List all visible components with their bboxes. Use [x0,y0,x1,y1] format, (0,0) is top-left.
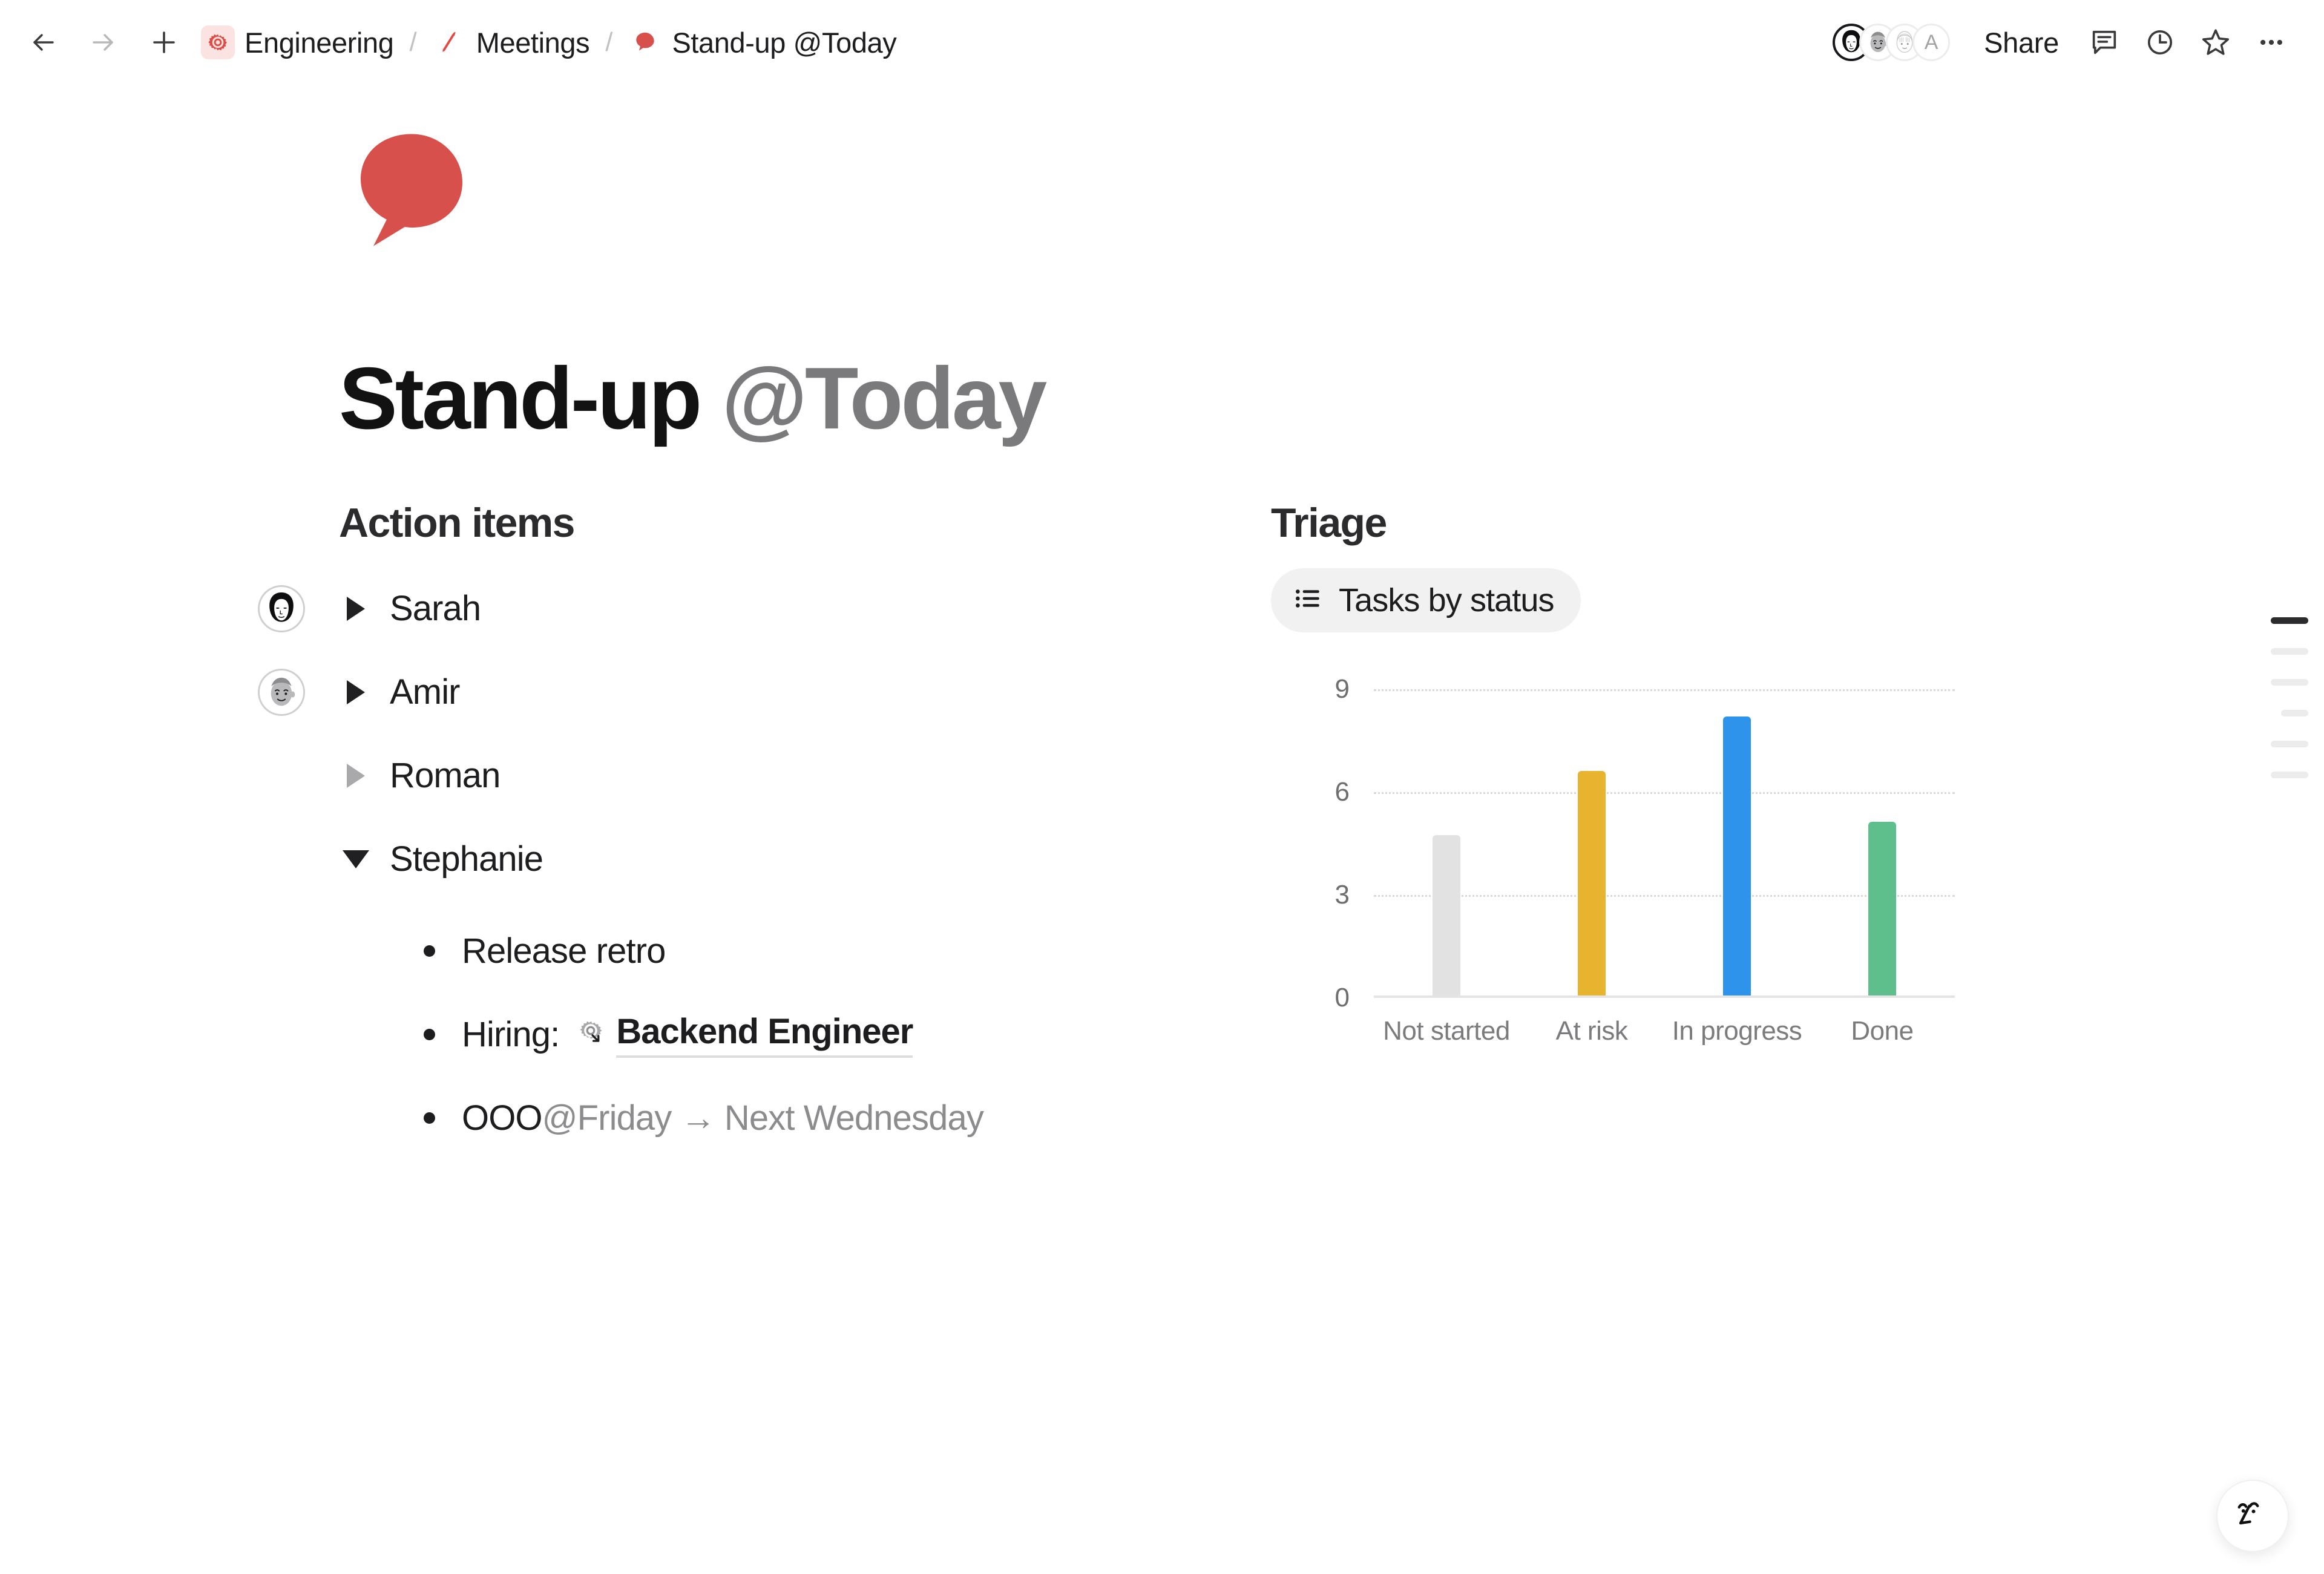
action-items-heading: Action items [339,499,1241,546]
back-button[interactable] [17,16,69,68]
bar-slot-not-started [1374,689,1519,995]
tree-label-sarah: Sarah [390,588,481,629]
bullet-text-hiring: Hiring: Backend [462,1011,913,1058]
bullet-dot-icon [424,1029,435,1040]
bullet-dot-icon [424,945,435,957]
avatar-placeholder[interactable]: A [1912,24,1950,61]
row-avatar-sarah[interactable] [258,585,305,632]
toolbar-actions: A Share [1833,16,2297,68]
breadcrumb-separator-2: / [605,27,612,57]
bullet-dot-icon [424,1112,435,1124]
assistant-button[interactable] [2216,1480,2289,1552]
tree-row-amir[interactable]: Amir [339,651,1241,734]
list-item[interactable]: Release retro [339,910,1241,993]
bar-slot-in-progress [1664,689,1810,995]
content-columns: Action items [339,499,1997,1160]
toggle-arrow-amir[interactable] [339,680,373,704]
breadcrumb-item-meetings[interactable]: Meetings [428,22,595,63]
x-label-in-progress: In progress [1664,1016,1810,1046]
chart-x-labels: Not started At risk In progress Done [1374,1016,1955,1046]
bullet-text-release-retro: Release retro [462,931,665,971]
bar-at-risk[interactable] [1578,771,1606,995]
x-label-done: Done [1810,1016,1955,1046]
document-canvas: Stand-up @Today Action items [0,85,2324,1574]
tree-row-stephanie[interactable]: Stephanie [339,818,1241,901]
y-tick-6: 6 [1259,777,1350,807]
page-title-text: Stand-up [339,349,722,447]
breadcrumb-item-standup[interactable]: Stand-up @Today [623,22,901,63]
x-label-not-started: Not started [1374,1016,1519,1046]
page-link-backend-engineer[interactable]: Backend Engineer [575,1011,913,1058]
tree-label-roman: Roman [390,755,500,796]
document-outline-minimap[interactable] [2236,617,2308,778]
triage-heading: Triage [1271,499,1955,546]
action-items-tree: Sarah [339,567,1241,1160]
y-tick-0: 0 [1259,983,1350,1013]
minimap-line[interactable] [2271,772,2308,778]
page-link-label: Backend Engineer [616,1011,913,1058]
list-icon [1293,583,1323,617]
clock-icon[interactable] [2134,16,2186,68]
x-label-at-risk: At risk [1519,1016,1664,1046]
document-body: Stand-up @Today Action items [339,85,1997,1160]
breadcrumb-label-standup: Stand-up @Today [672,26,896,59]
minimap-line-active[interactable] [2271,617,2308,624]
tree-row-roman[interactable]: Roman [339,734,1241,818]
bullet-text-ooo: OOO @Friday → Next Wednesday [462,1098,983,1138]
bar-in-progress[interactable] [1723,716,1751,995]
share-button[interactable]: Share [1974,20,2069,65]
ellipsis-icon[interactable] [2245,16,2297,68]
bar-not-started[interactable] [1433,835,1460,995]
minimap-line[interactable] [2271,679,2308,686]
minimap-line[interactable] [2271,741,2308,747]
page-emoji-speech-bubble-icon[interactable] [339,127,484,254]
list-item[interactable]: Hiring: Backend [339,993,1241,1077]
y-tick-9: 9 [1259,674,1350,704]
tree-label-amir: Amir [390,672,460,712]
breadcrumb-label-meetings: Meetings [476,26,590,59]
chip-label: Tasks by status [1339,582,1554,619]
tree-row-sarah[interactable]: Sarah [339,567,1241,651]
page-title-mention: @Today [722,349,1045,447]
tasks-by-status-chip[interactable]: Tasks by status [1271,568,1581,632]
breadcrumb: Engineering / Meetings / Stand-up @Today [196,22,901,63]
bar-slot-done [1810,689,1955,995]
bar-slot-at-risk [1519,689,1664,995]
avatar-initial: A [1925,31,1938,54]
star-icon[interactable] [2190,16,2242,68]
toggle-arrow-roman[interactable] [339,764,373,788]
speech-bubble-emoji-icon [628,25,662,59]
chart-bars [1374,689,1955,995]
bullet-ooo-date-mention: @Friday → Next Wednesday [542,1098,983,1138]
pencil-emoji-icon [433,25,467,59]
navigation-arrows [17,16,190,68]
list-item[interactable]: OOO @Friday → Next Wednesday [339,1077,1241,1160]
gear-emoji-icon [201,25,235,59]
triage-column: Triage Tasks by status [1241,499,1955,1052]
breadcrumb-separator: / [409,27,416,57]
bullet-ooo-label: OOO [462,1098,542,1138]
bullet-prefix-hiring: Hiring: [462,1014,559,1055]
toggle-arrow-sarah[interactable] [339,597,373,621]
axis-baseline [1374,995,1955,998]
top-toolbar: Engineering / Meetings / Stand-up @Today [0,0,2324,85]
row-avatar-amir[interactable] [258,669,305,716]
y-tick-3: 3 [1259,880,1350,910]
toggle-arrow-stephanie[interactable] [339,850,373,868]
collaborator-avatars: A [1833,24,1950,61]
tree-label-stephanie: Stephanie [390,839,543,879]
bar-done[interactable] [1868,822,1896,995]
comment-icon[interactable] [2078,16,2130,68]
row-avatar-roman-empty [258,752,305,799]
new-document-button[interactable] [138,16,190,68]
page-title[interactable]: Stand-up @Today [339,351,1997,446]
tasks-by-status-chart: 9 6 3 0 [1271,677,1955,1052]
breadcrumb-label-engineering: Engineering [245,26,393,59]
chart-plot-area [1374,689,1955,998]
gear-link-icon [575,1014,606,1055]
row-avatar-stephanie-empty [258,836,305,883]
minimap-line-indented[interactable] [2281,710,2308,716]
forward-button[interactable] [77,16,130,68]
action-items-column: Action items [339,499,1241,1160]
minimap-line[interactable] [2271,648,2308,655]
breadcrumb-item-engineering[interactable]: Engineering [196,22,398,63]
craft-assistant-face-icon [2234,1496,2271,1536]
stephanie-bullets: Release retro Hiring: [339,910,1241,1160]
